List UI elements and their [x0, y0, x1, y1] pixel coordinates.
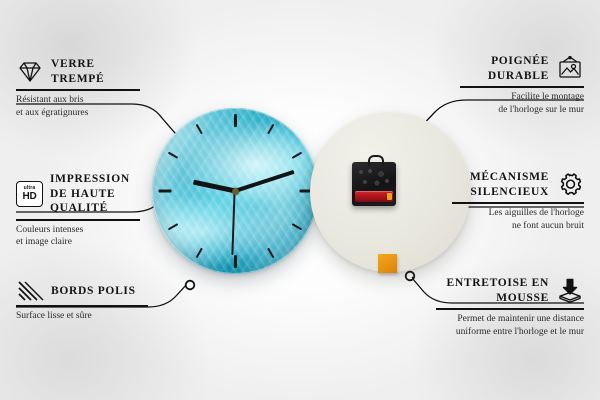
callout-rule — [16, 89, 140, 91]
clock-mechanism — [352, 162, 396, 206]
mechanism-detail — [357, 168, 391, 188]
callout-title: VERRE TREMPÉ — [51, 57, 140, 86]
callout-rule — [452, 202, 584, 204]
callout-rule — [16, 219, 140, 221]
callout-mecanisme-silencieux: MÉCANISME SILENCIEUX Les aiguilles de l'… — [452, 170, 584, 232]
diagonal-lines-icon — [16, 280, 44, 302]
clock-center-cap — [232, 188, 239, 195]
callout-rule — [436, 308, 584, 310]
callout-description: Facilite le montage de l'horloge sur le … — [460, 91, 584, 116]
callout-title: IMPRESSION DE HAUTE QUALITÉ — [50, 172, 140, 216]
callout-description: Couleurs intenses et image claire — [16, 224, 140, 249]
clock-tick — [234, 255, 237, 268]
callout-rule — [16, 305, 148, 307]
callout-rule — [460, 86, 584, 88]
callout-header: VERRE TREMPÉ — [16, 57, 140, 86]
leader-endpoint-entretoise — [406, 272, 415, 281]
callout-title: MÉCANISME SILENCIEUX — [452, 170, 549, 199]
callout-entretoise-en-mousse: ENTRETOISE EN MOUSSE Permet de maintenir… — [436, 276, 584, 338]
callout-verre-trempe: VERRE TREMPÉ Résistant aux bris et aux é… — [16, 57, 140, 119]
callout-header: ENTRETOISE EN MOUSSE — [436, 276, 584, 305]
clock-front — [152, 108, 318, 274]
callout-header: ultra HD IMPRESSION DE HAUTE QUALITÉ — [16, 172, 140, 216]
ultra-hd-icon: ultra HD — [16, 181, 43, 207]
callout-description: Résistant aux bris et aux égratignures — [16, 94, 140, 119]
callout-title: POIGNÉE DURABLE — [460, 54, 549, 83]
callout-description: Surface lisse et sûre — [16, 310, 148, 323]
clock-tick — [234, 114, 237, 127]
leader-endpoint-bords-polis — [186, 281, 195, 290]
clock-back — [310, 112, 470, 272]
callout-impression-haute-qualite: ultra HD IMPRESSION DE HAUTE QUALITÉ Cou… — [16, 172, 140, 249]
callout-description: Permet de maintenir une distance uniform… — [436, 313, 584, 338]
clock-tick — [158, 190, 171, 193]
infographic-canvas: VERRE TREMPÉ Résistant aux bris et aux é… — [0, 0, 600, 400]
battery — [355, 191, 393, 202]
callout-header: MÉCANISME SILENCIEUX — [452, 170, 584, 199]
callout-header: POIGNÉE DURABLE — [460, 54, 584, 83]
arrow-onto-pad-icon — [556, 278, 584, 304]
mechanism-hanger-hook — [368, 155, 384, 166]
hanging-picture-icon — [556, 56, 584, 82]
callout-poignee-durable: POIGNÉE DURABLE Facilite le montage de l… — [460, 54, 584, 116]
ultra-hd-icon-large-text: HD — [22, 192, 36, 202]
callout-bords-polis: BORDS POLIS Surface lisse et sûre — [16, 280, 148, 322]
callout-description: Les aiguilles de l'horloge ne font aucun… — [452, 207, 584, 232]
foam-spacer — [378, 254, 397, 273]
callout-title: ENTRETOISE EN MOUSSE — [436, 276, 549, 305]
gear-icon — [556, 172, 584, 198]
callout-header: BORDS POLIS — [16, 280, 148, 302]
diamond-icon — [16, 60, 44, 84]
callout-title: BORDS POLIS — [51, 284, 136, 299]
